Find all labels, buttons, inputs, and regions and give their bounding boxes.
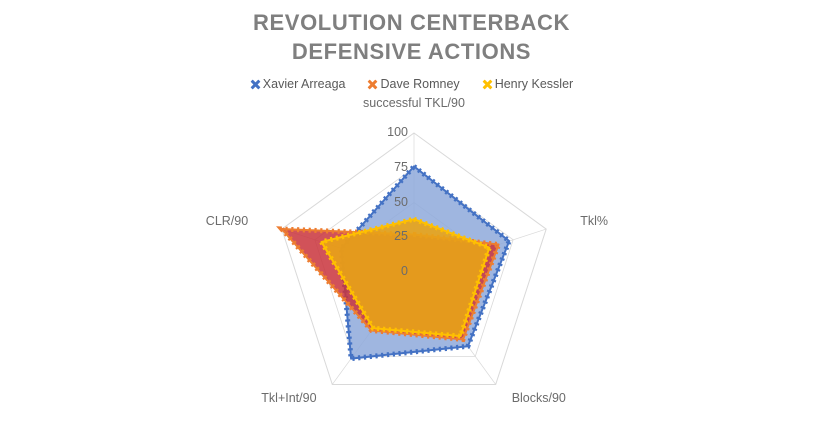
category-label-clr-90: CLR/90 xyxy=(206,214,248,228)
chart-title: REVOLUTION CENTERBACK DEFENSIVE ACTIONS xyxy=(0,8,823,66)
legend-item-dave-romney[interactable]: Dave Romney xyxy=(367,77,459,91)
legend-item-xavier-arreaga[interactable]: Xavier Arreaga xyxy=(250,77,346,91)
cross-marker-icon xyxy=(367,79,378,90)
radial-tick-label-75: 75 xyxy=(368,160,408,174)
category-label-blocks-90: Blocks/90 xyxy=(512,391,566,405)
radar-chart-figure: REVOLUTION CENTERBACK DEFENSIVE ACTIONS … xyxy=(0,0,823,445)
radial-tick-label-25: 25 xyxy=(368,229,408,243)
legend-label-dave-romney: Dave Romney xyxy=(380,77,459,91)
legend-label-henry-kessler: Henry Kessler xyxy=(495,77,574,91)
chart-title-line-2: DEFENSIVE ACTIONS xyxy=(0,37,823,66)
chart-title-line-1: REVOLUTION CENTERBACK xyxy=(0,8,823,37)
category-label-tkl-: Tkl% xyxy=(580,214,608,228)
cross-marker-icon xyxy=(250,79,261,90)
category-label-tkl-int-90: Tkl+Int/90 xyxy=(261,391,316,405)
legend-item-henry-kessler[interactable]: Henry Kessler xyxy=(482,77,574,91)
radar-plot-svg xyxy=(0,96,823,445)
category-label-successful-tkl-90: successful TKL/90 xyxy=(363,96,465,110)
chart-legend: Xavier Arreaga Dave Romney Henry Kessler xyxy=(0,77,823,91)
radial-tick-label-100: 100 xyxy=(368,125,408,139)
legend-label-xavier-arreaga: Xavier Arreaga xyxy=(263,77,346,91)
radial-tick-label-0: 0 xyxy=(368,264,408,278)
radar-plot-area: 0255075100 successful TKL/90Tkl%Blocks/9… xyxy=(0,96,823,445)
cross-marker-icon xyxy=(482,79,493,90)
radial-tick-label-50: 50 xyxy=(368,195,408,209)
